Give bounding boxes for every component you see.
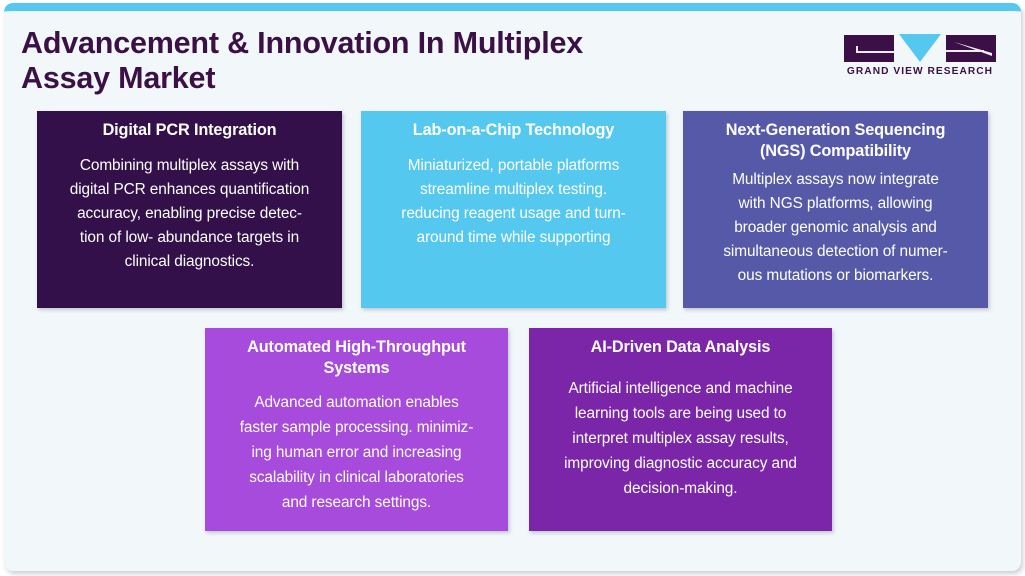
info-card-body: Combining multiplex assays with digital …	[48, 154, 331, 274]
slide-root: Advancement & Innovation In Multiplex As…	[0, 0, 1025, 576]
info-card-body: Miniaturized, portable platforms streaml…	[372, 154, 655, 250]
info-card-body: Artificial intelligence and machine lear…	[540, 376, 821, 501]
logo-wordmark: GRAND VIEW RESEARCH	[844, 66, 996, 77]
info-card-title: Lab-on-a-Chip Technology	[372, 120, 655, 141]
slide-surface: Advancement & Innovation In Multiplex As…	[4, 3, 1021, 571]
info-card-title: Next-Generation Sequencing (NGS) Compati…	[694, 120, 977, 162]
info-card-next-generation-sequencing-compatibility: Next-Generation Sequencing (NGS) Compati…	[683, 111, 988, 308]
triangle-down-icon	[899, 34, 941, 62]
logo-right-diagonal-stroke	[954, 40, 994, 62]
logo-left-horizontal-stroke	[856, 51, 894, 53]
info-card-digital-pcr-integration: Digital PCR Integration Combining multip…	[37, 111, 342, 308]
info-card-automated-high-throughput-systems: Automated High-Throughput Systems Advanc…	[205, 328, 508, 531]
info-card-ai-driven-data-analysis: AI-Driven Data Analysis Artificial intel…	[529, 328, 832, 531]
info-card-lab-on-a-chip-technology: Lab-on-a-Chip Technology Miniaturized, p…	[361, 111, 666, 308]
logo-block-left-icon	[844, 35, 894, 62]
brand-logo: GRAND VIEW RESEARCH	[844, 33, 996, 85]
info-card-title: Digital PCR Integration	[48, 120, 331, 141]
page-title: Advancement & Innovation In Multiplex As…	[21, 26, 661, 96]
info-card-title: AI-Driven Data Analysis	[540, 337, 821, 358]
logo-block-right-icon	[946, 35, 996, 62]
info-card-body: Multiplex assays now integrate with NGS …	[694, 168, 977, 288]
info-card-body: Advanced automation enables faster sampl…	[216, 390, 497, 515]
logo-marks	[844, 33, 996, 63]
slide-header: Advancement & Innovation In Multiplex As…	[4, 11, 1021, 107]
info-card-title: Automated High-Throughput Systems	[216, 337, 497, 379]
